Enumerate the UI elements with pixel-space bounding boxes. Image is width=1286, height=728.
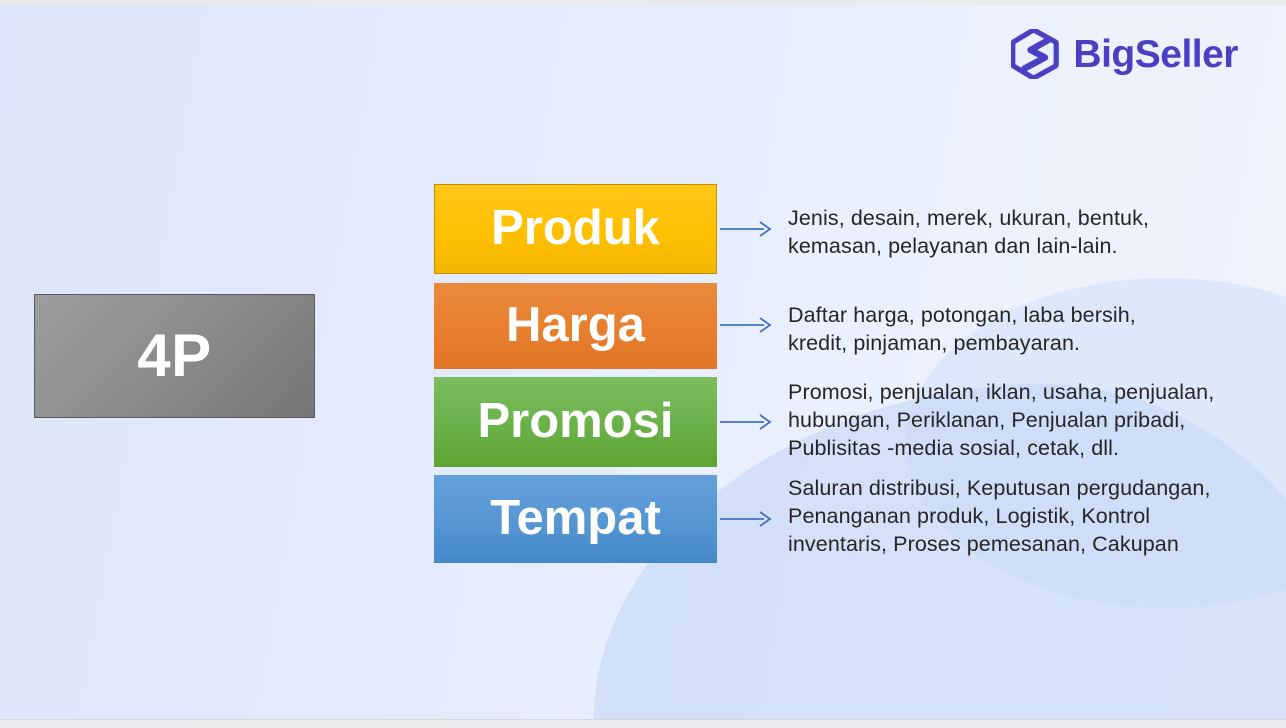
brand-logo: BigSeller: [1011, 29, 1238, 79]
diagram-box-promosi: Promosi: [434, 377, 717, 467]
diagram-box-label: Tempat: [490, 494, 661, 545]
description-harga: Daftar harga, potongan, laba bersih, kre…: [788, 301, 1258, 357]
core-concept-label: 4P: [137, 326, 211, 386]
description-promosi: Promosi, penjualan, iklan, usaha, penjua…: [788, 378, 1258, 462]
bigseller-hexagon-s-logo-icon: [1011, 29, 1059, 79]
arrow-right-icon: [720, 509, 772, 529]
description-produk: Jenis, desain, merek, ukuran, bentuk, ke…: [788, 204, 1258, 260]
diagram-box-label: Harga: [506, 301, 645, 352]
bottom-edge-bar: [0, 719, 1286, 728]
core-concept-box: 4P: [34, 294, 315, 418]
diagram-box-label: Promosi: [477, 397, 673, 448]
brand-name: BigSeller: [1073, 35, 1238, 74]
description-tempat: Saluran distribusi, Keputusan pergudanga…: [788, 474, 1258, 558]
diagram-box-produk: Produk: [434, 184, 717, 274]
diagram-box-harga: Harga: [434, 283, 717, 369]
top-edge-bar: [0, 0, 1286, 5]
arrow-right-icon: [720, 219, 772, 239]
arrow-right-icon: [720, 315, 772, 335]
slide-canvas: BigSeller 4P Produk Harga Promosi Tempat: [0, 0, 1286, 728]
diagram-box-label: Produk: [491, 204, 660, 255]
arrow-right-icon: [720, 412, 772, 432]
diagram-box-tempat: Tempat: [434, 475, 717, 563]
